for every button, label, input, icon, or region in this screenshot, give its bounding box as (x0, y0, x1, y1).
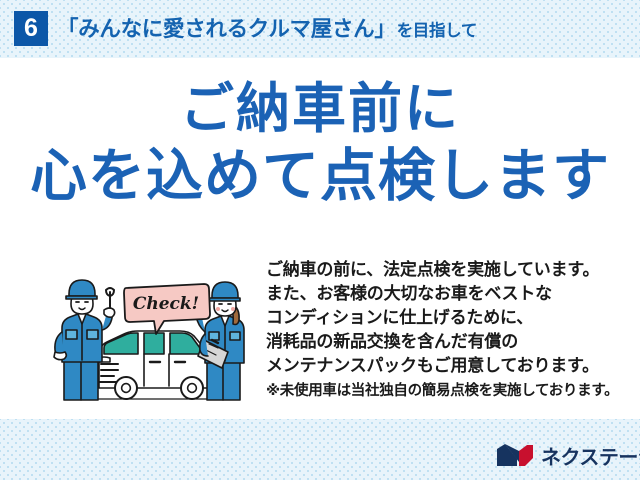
advertisement-page: 6 「みんなに愛されるクルマ屋さん」 を目指して ご納車前に 心を込めて点検しま… (0, 0, 640, 480)
body-copy: ご納車の前に、法定点検を実施しています。 また、お客様の大切なお車をベストな コ… (266, 258, 626, 402)
body-note: ※未使用車は当社独自の簡易点検を実施しております。 (266, 380, 626, 402)
body-line: また、お客様の大切なお車をベストな (266, 282, 626, 306)
van-graphic (96, 331, 214, 399)
section-number-badge: 6 (14, 11, 48, 46)
headline-line-2: 心を込めて点検します (0, 147, 640, 205)
brand-name: ネクステージ (541, 441, 640, 470)
header-title: 「みんなに愛されるクルマ屋さん」 を目指して (57, 12, 477, 46)
mechanics-illustration: Check! (52, 266, 257, 414)
headline-line-1: ご納車前に (0, 82, 640, 137)
body-line: メンテナンスパックもご用意しております。 (266, 354, 626, 378)
body-line: 消耗品の新品交換を含んだ有償の (266, 330, 626, 354)
nextage-n-mark-icon (495, 442, 535, 468)
body-line: ご納車の前に、法定点検を実施しています。 (266, 258, 626, 282)
headline: ご納車前に 心を込めて点検します (0, 82, 640, 205)
header-title-main: 「みんなに愛されるクルマ屋さん」 (57, 12, 396, 43)
brand-logo: ネクステージ (495, 440, 640, 470)
header-title-tail: を目指して (397, 17, 478, 41)
body-line: コンディションに仕上げるために、 (266, 306, 626, 330)
check-bubble-text: Check! (133, 294, 199, 314)
